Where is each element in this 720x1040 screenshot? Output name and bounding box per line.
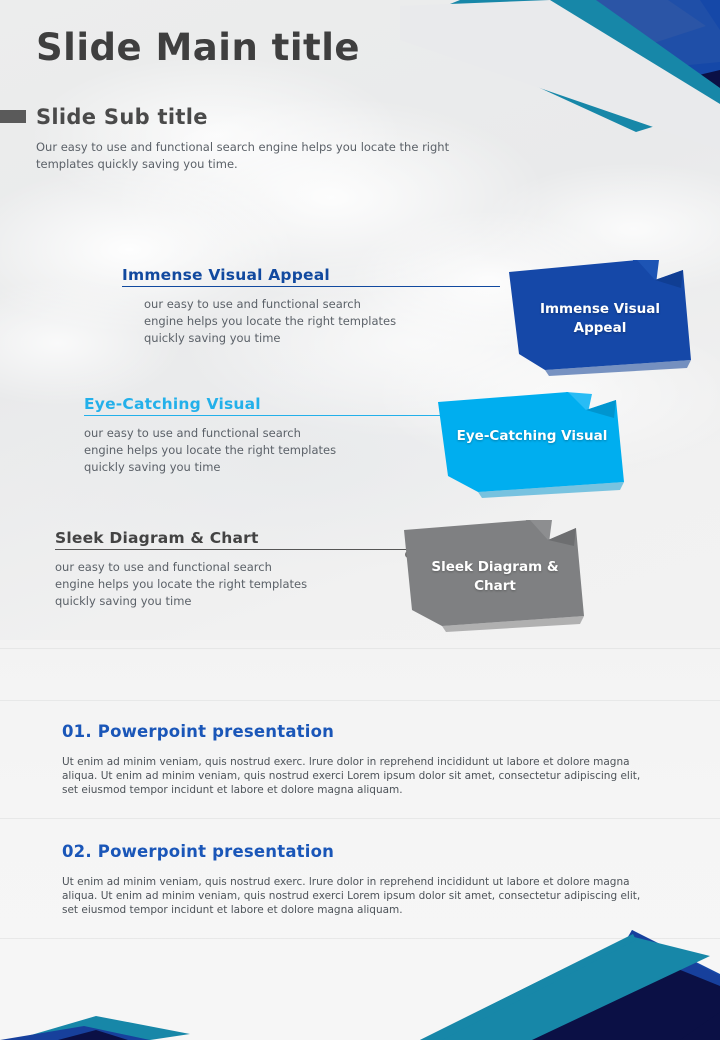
numbered-section-1: 01. Powerpoint presentation Ut enim ad m… [62, 722, 652, 797]
feature-row-2: Eye-Catching Visual our easy to use and … [84, 395, 447, 476]
feature-1-body: our easy to use and functional search en… [122, 296, 500, 347]
callout-banner-1-label: Immense Visual Appeal [505, 300, 695, 338]
feature-3-rule [55, 549, 425, 550]
background-streak [0, 818, 720, 819]
numbered-section-2: 02. Powerpoint presentation Ut enim ad m… [62, 842, 652, 917]
background-streak [0, 648, 720, 649]
callout-banner-3[interactable]: Sleek Diagram & Chart [400, 518, 590, 636]
background-streak [0, 938, 720, 939]
sub-description: Our easy to use and functional search en… [36, 139, 476, 173]
slide-canvas: Slide Main title Slide Sub title Our eas… [0, 0, 720, 1040]
background-streak [0, 700, 720, 701]
page-title: Slide Main title [36, 26, 360, 69]
callout-banner-2-label: Eye-Catching Visual [434, 427, 630, 446]
callout-banner-3-label: Sleek Diagram & Chart [400, 558, 590, 596]
numbered-section-2-body: Ut enim ad minim veniam, quis nostrud ex… [62, 875, 652, 917]
feature-1-heading: Immense Visual Appeal [122, 266, 500, 284]
sub-title-marker [0, 110, 26, 123]
feature-3-body: our easy to use and functional search en… [55, 559, 425, 610]
sub-title: Slide Sub title [36, 105, 208, 129]
feature-2-rule [84, 415, 447, 416]
callout-banner-1[interactable]: Immense Visual Appeal [505, 258, 695, 380]
feature-2-heading: Eye-Catching Visual [84, 395, 447, 413]
feature-3-heading: Sleek Diagram & Chart [55, 529, 425, 547]
feature-row-1: Immense Visual Appeal our easy to use an… [122, 266, 500, 347]
callout-banner-2[interactable]: Eye-Catching Visual [434, 390, 630, 500]
numbered-section-2-heading: 02. Powerpoint presentation [62, 842, 652, 861]
numbered-section-1-body: Ut enim ad minim veniam, quis nostrud ex… [62, 755, 652, 797]
feature-row-3: Sleek Diagram & Chart our easy to use an… [55, 529, 425, 610]
numbered-section-1-heading: 01. Powerpoint presentation [62, 722, 652, 741]
feature-2-body: our easy to use and functional search en… [84, 425, 447, 476]
feature-1-rule [122, 286, 500, 287]
